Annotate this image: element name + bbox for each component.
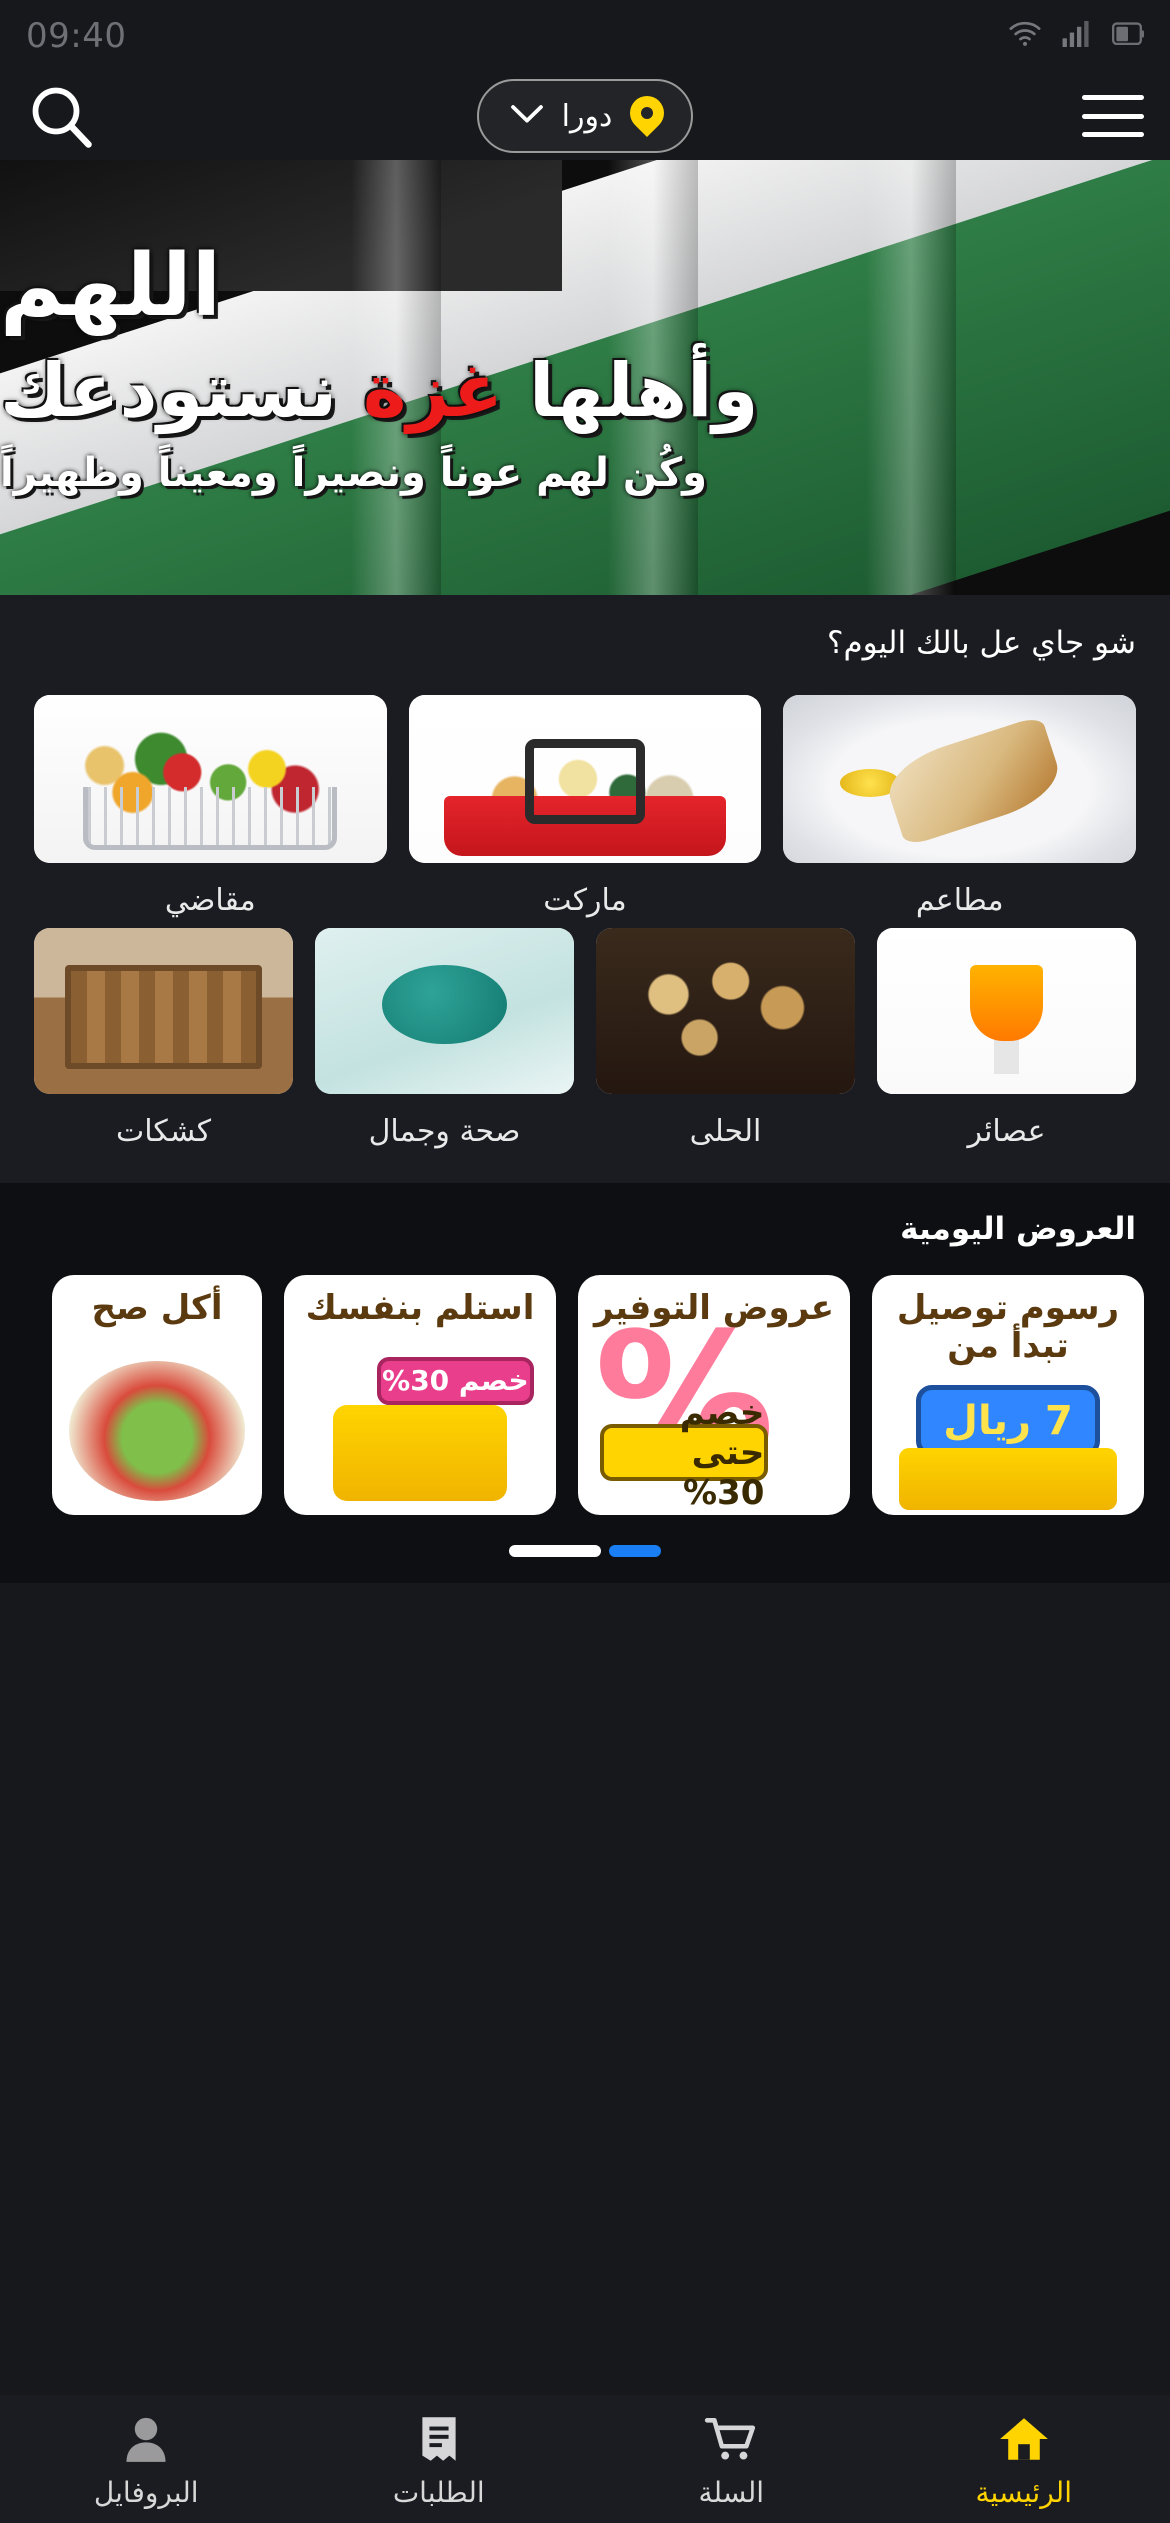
category-label: الحلى — [690, 1114, 762, 1149]
daily-offers-title: العروض اليومية — [0, 1211, 1170, 1247]
status-bar: 09:40 — [0, 0, 1170, 72]
category-kiosks[interactable]: كشكات — [34, 928, 293, 1149]
signal-icon — [1062, 21, 1092, 51]
category-sweets[interactable]: الحلى — [596, 928, 855, 1149]
category-image — [34, 695, 387, 863]
category-image — [877, 928, 1136, 1094]
hero-line-2-suffix: وأهلها — [529, 348, 759, 434]
category-restaurants[interactable]: مطاعم — [783, 695, 1136, 918]
nav-item-cart[interactable]: السلة — [585, 2410, 878, 2509]
category-health-beauty[interactable]: صحة وجمال — [315, 928, 574, 1149]
nav-item-orders[interactable]: الطلبات — [293, 2410, 586, 2509]
header-center: دورا — [146, 79, 1024, 153]
nav-item-profile[interactable]: البروفايل — [0, 2410, 293, 2509]
offer-card-title: أكل صح — [52, 1289, 262, 1327]
category-image — [34, 928, 293, 1094]
offer-card-savings[interactable]: عروض التوفير % خصم حتى 30% — [578, 1275, 850, 1515]
category-label: ماركت — [543, 883, 626, 918]
category-image — [783, 695, 1136, 863]
offer-card-healthy-food[interactable]: أكل صح — [52, 1275, 262, 1515]
categories-section: شو جاي عل بالك اليوم؟ مطاعم ماركت مقاضي … — [0, 595, 1170, 1183]
header-right — [1024, 95, 1144, 137]
nav-item-home[interactable]: الرئيسية — [878, 2410, 1170, 2509]
hero-line-2-prefix: نستودعك — [0, 348, 337, 434]
home-icon — [997, 2410, 1051, 2464]
hand-graphic — [333, 1405, 507, 1501]
receipt-icon — [412, 2410, 466, 2464]
hero-line-2: وأهلها غزة نستودعك — [0, 353, 758, 431]
category-label: مقاضي — [165, 883, 256, 918]
category-label: صحة وجمال — [369, 1114, 521, 1149]
hero-text-block: اللهم وأهلها غزة نستودعك وكُن لهم عوناً … — [0, 160, 1170, 595]
app-header: دورا — [0, 72, 1170, 160]
nav-label: الرئيسية — [976, 2476, 1072, 2509]
offer-card-delivery-fee[interactable]: رسوم توصيل تبدأ من 7 ريال — [872, 1275, 1144, 1515]
offer-card-badge: خصم حتى 30% — [600, 1424, 769, 1482]
header-left — [26, 81, 146, 151]
hamburger-menu-icon[interactable] — [1082, 95, 1144, 137]
search-icon[interactable] — [26, 81, 96, 151]
location-name: دورا — [562, 99, 613, 134]
hand-graphic — [899, 1448, 1117, 1510]
offer-card-title: رسوم توصيل تبدأ من — [872, 1289, 1144, 1365]
offer-card-badge: 7 ريال — [916, 1385, 1101, 1457]
carousel-pagination[interactable] — [0, 1545, 1170, 1557]
nav-label: الطلبات — [393, 2476, 485, 2509]
location-pin-icon — [630, 94, 664, 138]
offer-card-pickup[interactable]: استلم بنفسك خصم 30% — [284, 1275, 556, 1515]
bottom-navigation-bar: الرئيسية السلة الطلبات — [0, 2395, 1170, 2523]
nav-label: البروفايل — [94, 2476, 199, 2509]
category-juices[interactable]: عصائر — [877, 928, 1136, 1149]
category-image — [409, 695, 762, 863]
categories-row-1: مطاعم ماركت مقاضي — [34, 695, 1136, 918]
hero-line-2-highlight: غزة — [363, 348, 503, 434]
category-label: عصائر — [968, 1114, 1046, 1149]
hero-banner[interactable]: اللهم وأهلها غزة نستودعك وكُن لهم عوناً … — [0, 160, 1170, 595]
daily-offers-section: العروض اليومية رسوم توصيل تبدأ من 7 ريال… — [0, 1183, 1170, 1583]
chevron-down-icon — [510, 103, 544, 129]
category-label: مطاعم — [916, 883, 1004, 918]
category-image — [596, 928, 855, 1094]
category-groceries[interactable]: مقاضي — [34, 695, 387, 918]
offer-card-badge: خصم 30% — [377, 1357, 535, 1405]
hero-line-3: وكُن لهم عوناً ونصيراً ومعيناً وظهيراً — [0, 450, 707, 496]
hero-line-1: اللهم — [0, 241, 221, 331]
wifi-icon — [1008, 21, 1042, 51]
pagination-dot-active[interactable] — [609, 1545, 661, 1557]
offer-card-title: استلم بنفسك — [284, 1289, 556, 1327]
shopping-cart-icon — [704, 2410, 758, 2464]
category-image — [315, 928, 574, 1094]
battery-icon — [1112, 22, 1144, 50]
categories-row-2: عصائر الحلى صحة وجمال كشكات — [34, 928, 1136, 1149]
category-label: كشكات — [116, 1114, 211, 1149]
location-selector[interactable]: دورا — [477, 79, 693, 153]
app-screen: 09:40 — [0, 0, 1170, 2523]
categories-title: شو جاي عل بالك اليوم؟ — [34, 625, 1136, 661]
nav-label: السلة — [698, 2476, 764, 2509]
status-icon-group — [1008, 21, 1144, 51]
food-bowl-graphic — [69, 1361, 245, 1500]
offers-carousel[interactable]: رسوم توصيل تبدأ من 7 ريال عروض التوفير %… — [0, 1275, 1170, 1515]
category-market[interactable]: ماركت — [409, 695, 762, 918]
user-profile-icon — [119, 2410, 173, 2464]
status-clock: 09:40 — [26, 16, 126, 56]
pagination-dot[interactable] — [509, 1545, 601, 1557]
